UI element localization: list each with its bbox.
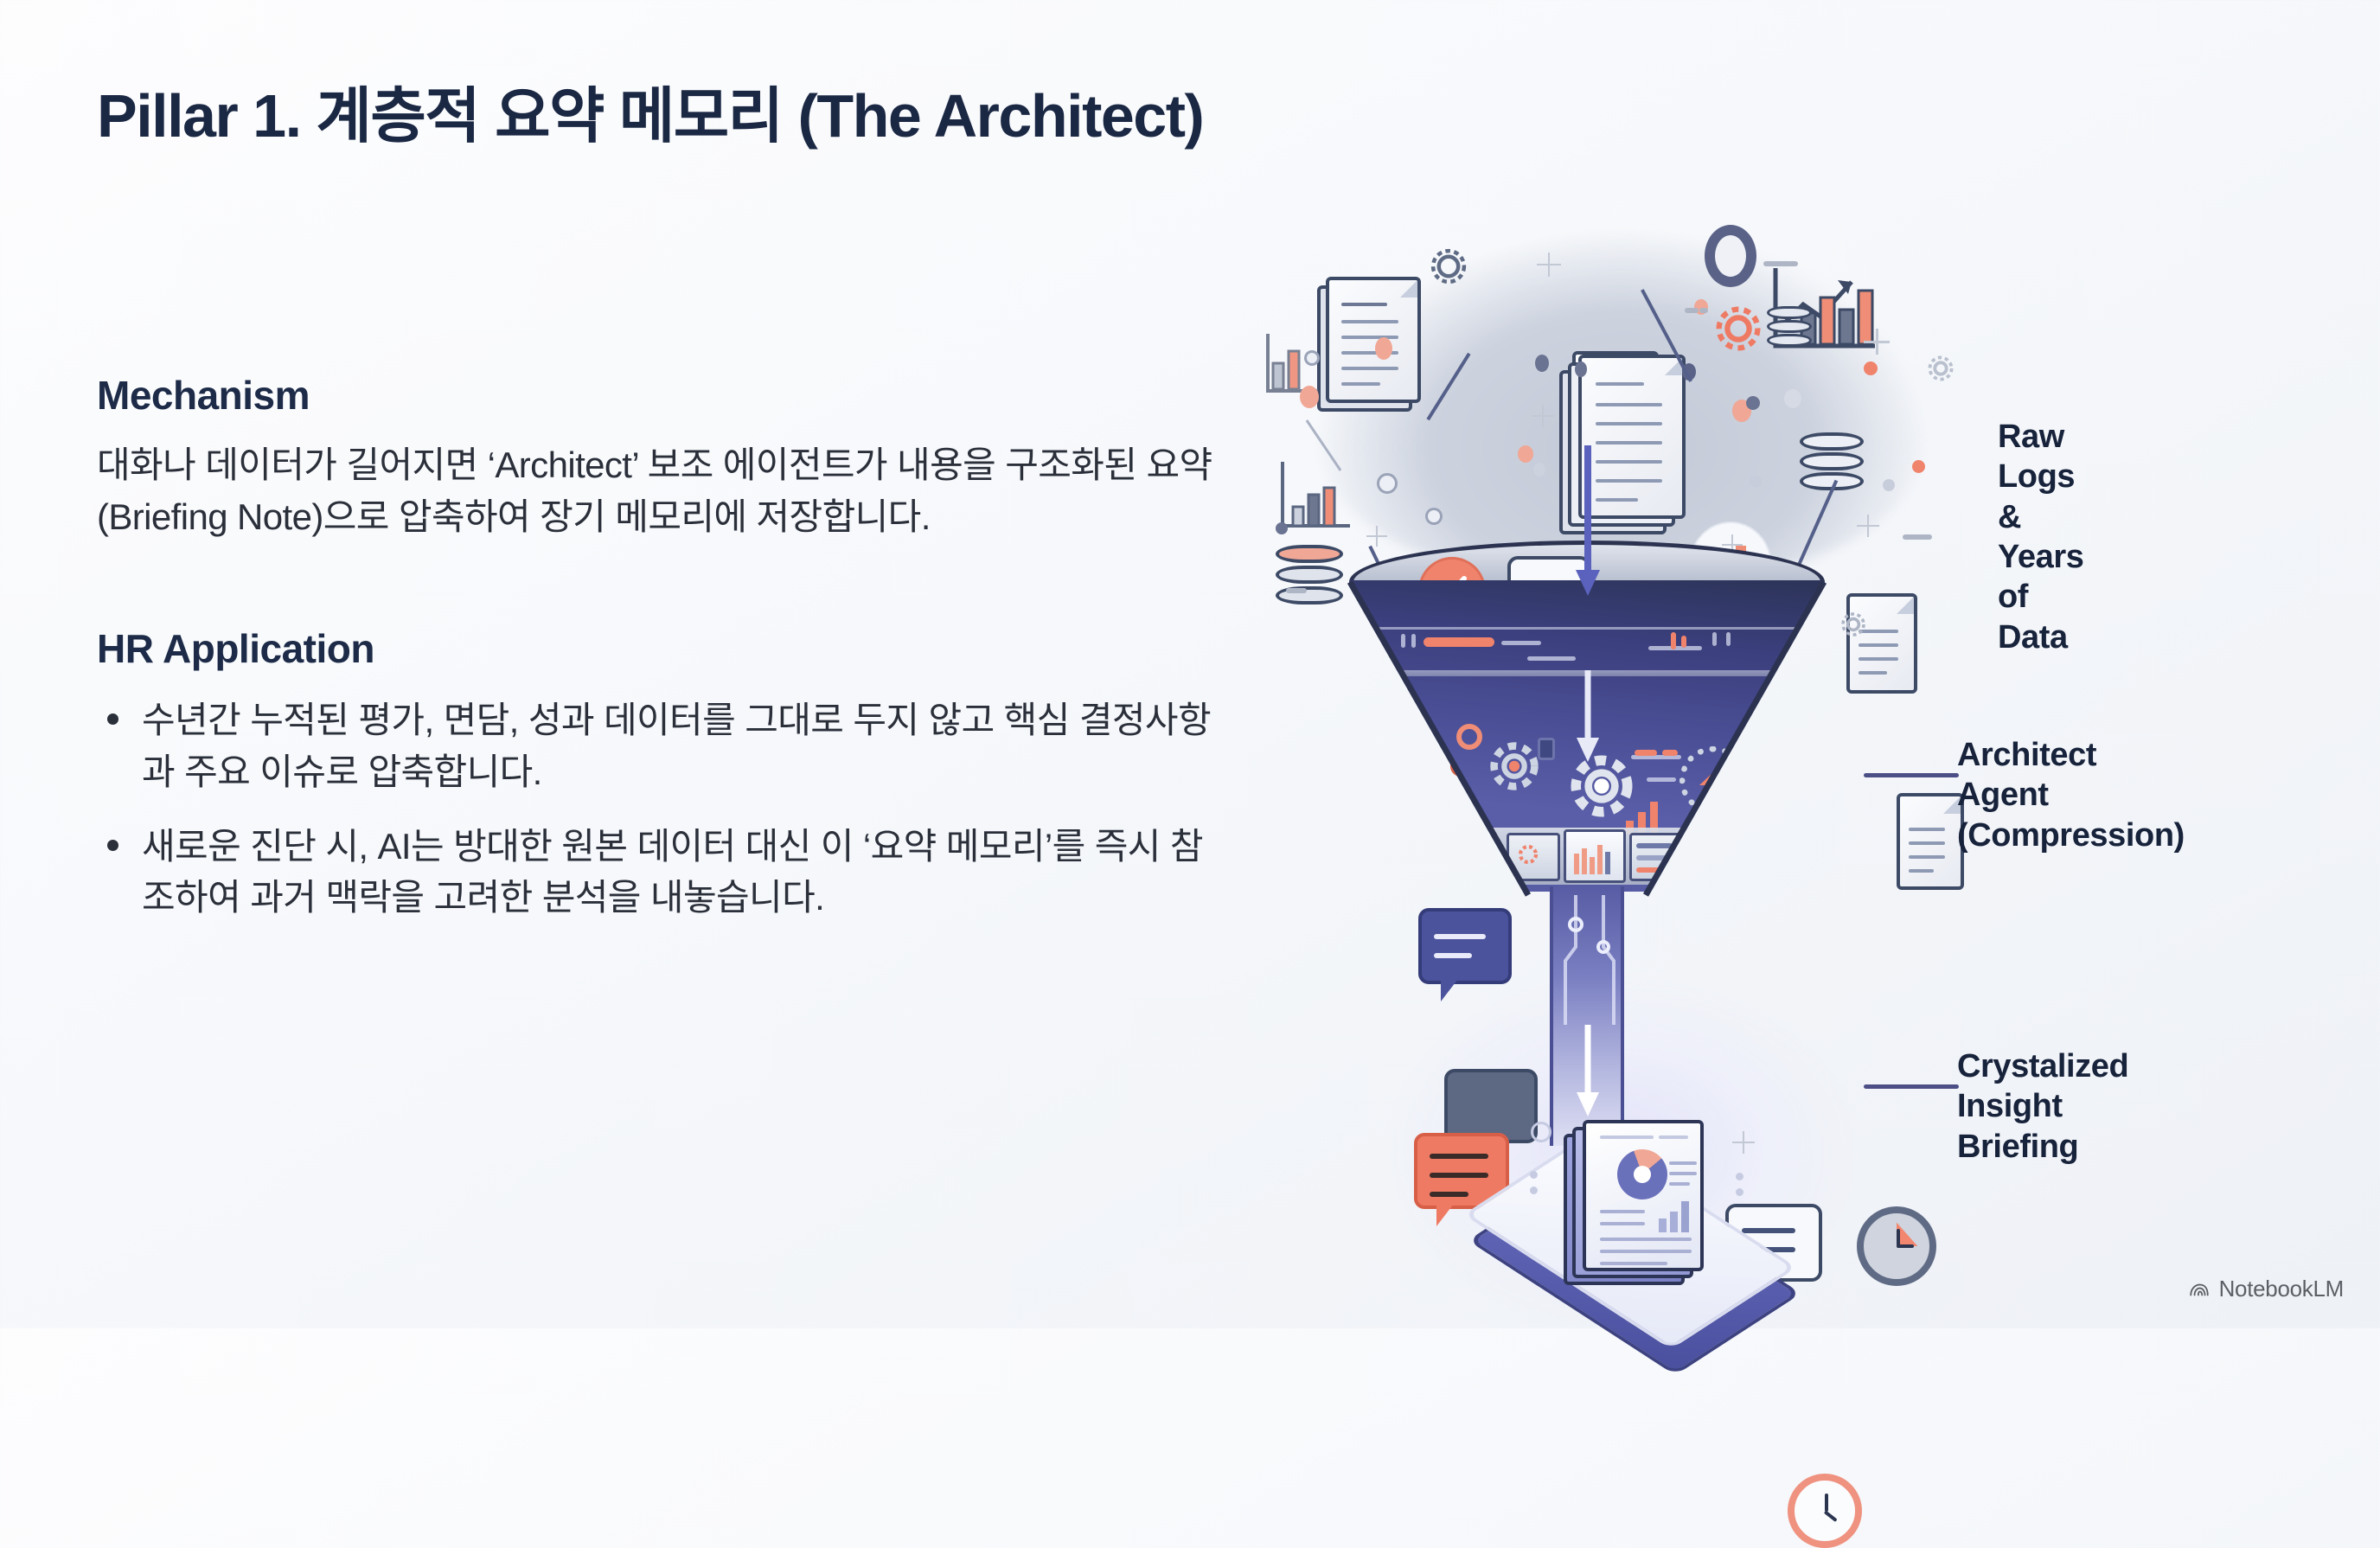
database-icon	[1767, 306, 1812, 356]
leader-line	[1864, 1084, 1959, 1089]
ring-icon	[1705, 225, 1756, 287]
decorative-dot	[1533, 1124, 1549, 1140]
hr-application-heading: HR Application	[97, 625, 1230, 672]
decorative-dash	[1685, 308, 1699, 313]
plus-icon	[1857, 515, 1879, 537]
bar-chart-icon	[1277, 457, 1353, 536]
list-item: 수년간 누적된 평가, 면담, 성과 데이터를 그대로 두지 않고 핵심 결정사…	[97, 694, 1230, 797]
bar-chart-icon	[1657, 1194, 1700, 1232]
decorative-dot	[1533, 463, 1545, 477]
document-icon	[1583, 1120, 1704, 1271]
decorative-dot	[1428, 510, 1440, 522]
gear-icon	[1923, 350, 1959, 387]
left-content-column: Mechanism 대화나 데이터가 길어지면 ‘Architect’ 보조 에…	[97, 372, 1230, 946]
plus-icon	[1864, 329, 1890, 355]
decorative-dot	[1530, 1187, 1538, 1194]
watermark-brand: NotebookLM	[2219, 1276, 2344, 1302]
notebooklm-watermark: NotebookLM	[2188, 1276, 2344, 1302]
decorative-dot	[1736, 1173, 1743, 1180]
decorative-dot	[1912, 460, 1925, 473]
decorative-dot	[1276, 522, 1288, 534]
list-item-text: 수년간 누적된 평가, 면담, 성과 데이터를 그대로 두지 않고 핵심 결정사…	[142, 700, 1211, 792]
mechanism-block: Mechanism 대화나 데이터가 길어지면 ‘Architect’ 보조 에…	[97, 372, 1230, 542]
label-raw-logs-text: Raw Logs & Years of Data	[1998, 417, 2083, 657]
down-arrow-icon	[1573, 445, 1603, 601]
bullet-dot-icon	[107, 713, 118, 725]
hr-application-block: HR Application 수년간 누적된 평가, 면담, 성과 데이터를 그…	[97, 625, 1230, 924]
funnel-graphic	[1258, 541, 2002, 1163]
decorative-dot	[1307, 353, 1317, 363]
decorative-dot	[1379, 476, 1395, 491]
bullet-dot-icon	[107, 840, 118, 851]
decorative-dot	[1530, 1171, 1538, 1179]
decorative-dot	[1883, 479, 1895, 491]
clock-icon	[1788, 1474, 1862, 1548]
briefing-document-stack	[1564, 1120, 1711, 1289]
hr-application-bullet-list: 수년간 누적된 평가, 면담, 성과 데이터를 그대로 두지 않고 핵심 결정사…	[97, 694, 1230, 924]
notebooklm-icon	[2188, 1278, 2210, 1301]
plus-icon	[1537, 253, 1561, 277]
plus-icon	[1532, 405, 1554, 427]
decorative-dot	[1575, 361, 1587, 377]
label-crystalized-insight-text: Crystalized Insight Briefing	[1957, 1046, 2128, 1167]
mechanism-heading: Mechanism	[97, 372, 1230, 419]
mechanism-paragraph: 대화나 데이터가 길어지면 ‘Architect’ 보조 에이전트가 내용을 구…	[97, 439, 1230, 542]
gear-icon	[1424, 242, 1473, 291]
leader-line	[1864, 773, 1959, 777]
decorative-dot	[1375, 337, 1392, 360]
decorative-dot	[1300, 386, 1319, 408]
decorative-dot	[1864, 361, 1878, 375]
decorative-dash	[1763, 261, 1798, 266]
funnel-illustration	[1258, 216, 2002, 1315]
decorative-dash	[1903, 534, 1932, 540]
list-item-text: 새로운 진단 시, AI는 방대한 원본 데이터 대신 이 ‘요약 메모리’를 …	[142, 826, 1203, 918]
pie-chart-icon	[1617, 1149, 1667, 1199]
decorative-dot	[1750, 476, 1762, 488]
decorative-dot	[1518, 445, 1533, 463]
decorative-dot	[1736, 1188, 1743, 1196]
page-title: Pillar 1. 계층적 요약 메모리 (The Architect)	[97, 67, 1203, 155]
down-arrow-icon	[1575, 670, 1601, 765]
plus-icon	[1732, 1131, 1755, 1154]
decorative-dot	[1535, 355, 1549, 372]
label-architect-agent-text: Architect Agent (Compression)	[1957, 735, 2185, 855]
document-icon	[1326, 277, 1421, 403]
decorative-dash	[1699, 308, 1708, 313]
list-item: 새로운 진단 시, AI는 방대한 원본 데이터 대신 이 ‘요약 메모리’를 …	[97, 821, 1230, 924]
decorative-dot	[1746, 396, 1760, 410]
decorative-dot	[1784, 389, 1801, 408]
gear-icon	[1708, 298, 1769, 359]
output-briefing-graphic	[1258, 1090, 2002, 1315]
